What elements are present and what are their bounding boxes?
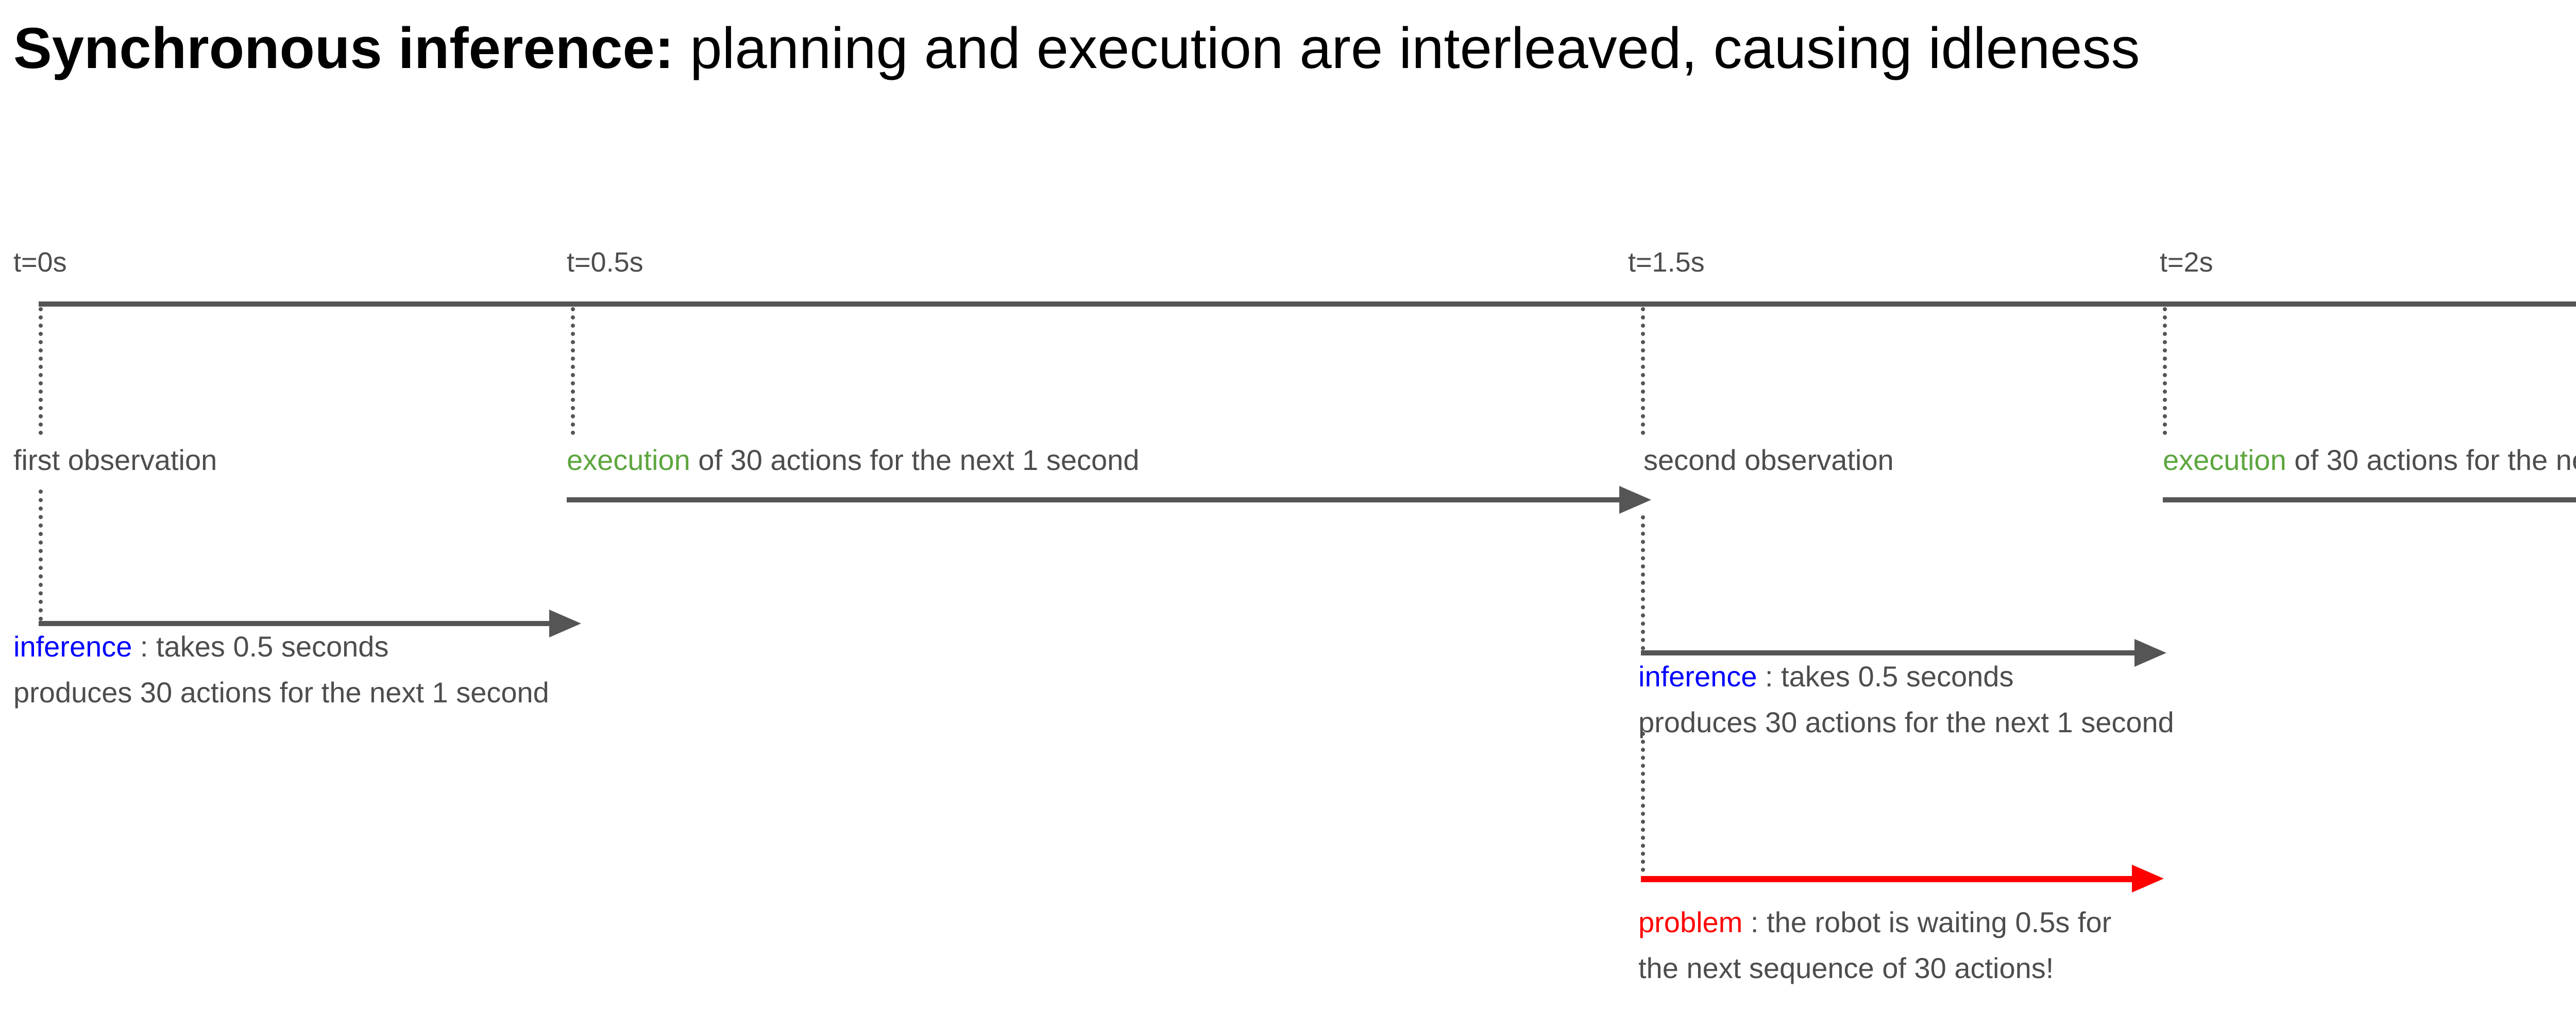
guide-t15-middle	[1641, 515, 1645, 650]
problem-line2: the next sequence of 30 actions!	[1638, 951, 2111, 985]
page-title: Synchronous inference: planning and exec…	[13, 16, 2140, 80]
inference-rest-1: : takes 0.5 seconds	[132, 630, 388, 663]
tick-label-t05: t=0.5s	[567, 246, 643, 278]
problem-keyword: problem	[1638, 906, 1742, 938]
problem-arrow-arrowhead	[2132, 865, 2164, 893]
execution-arrow-2-shaft	[2163, 497, 2576, 502]
execution-keyword-1: execution	[567, 444, 690, 476]
tick-label-t0: t=0s	[13, 246, 67, 278]
inference-arrow-1-arrowhead	[549, 610, 581, 637]
guide-t05-upper	[571, 307, 575, 435]
execution-label-1: execution of 30 actions for the next 1 s…	[567, 443, 1139, 477]
execution-keyword-2: execution	[2163, 444, 2286, 476]
inference-caption-2: inference : takes 0.5 seconds produces 3…	[1638, 660, 2174, 739]
diagram-canvas: Synchronous inference: planning and exec…	[0, 0, 2576, 1010]
inference-keyword-2: inference	[1638, 660, 1757, 693]
inference-caption-1: inference : takes 0.5 seconds produces 3…	[13, 630, 549, 709]
page-title-rest: planning and execution are interleaved, …	[674, 16, 2140, 80]
guide-t0-lower	[39, 490, 43, 621]
tick-label-t15: t=1.5s	[1628, 246, 1705, 278]
second-observation-text: second observation	[1643, 444, 1894, 476]
execution-arrow-1-shaft	[567, 497, 1620, 502]
execution-rest-2: of 30 actions for the next 1 second	[2286, 444, 2576, 476]
inference-keyword-1: inference	[13, 630, 132, 663]
problem-caption: problem : the robot is waiting 0.5s for …	[1638, 905, 2111, 985]
execution-label-2: execution of 30 actions for the next 1 s…	[2163, 443, 2576, 477]
inference-rest-2: : takes 0.5 seconds	[1757, 660, 2013, 693]
tick-label-t2: t=2s	[2160, 246, 2213, 278]
inference-arrow-2-shaft	[1641, 650, 2136, 655]
problem-arrow-shaft	[1641, 876, 2133, 882]
second-observation-label: second observation	[1643, 443, 1894, 477]
guide-t2-upper	[2163, 307, 2167, 435]
inference-line2-1: produces 30 actions for the next 1 secon…	[13, 676, 549, 709]
page-title-bold: Synchronous inference:	[13, 16, 674, 80]
execution-arrow-1-arrowhead	[1619, 486, 1651, 514]
execution-rest-1: of 30 actions for the next 1 second	[690, 444, 1140, 476]
first-observation-label: first observation	[13, 443, 217, 477]
guide-t0-upper	[39, 307, 43, 435]
main-timeline-shaft	[39, 301, 2576, 307]
inference-line2-2: produces 30 actions for the next 1 secon…	[1638, 705, 2174, 739]
guide-t15-lower	[1641, 732, 1645, 872]
inference-arrow-1-shaft	[39, 621, 550, 626]
problem-rest: : the robot is waiting 0.5s for	[1742, 906, 2111, 938]
first-observation-text: first observation	[13, 444, 217, 476]
guide-t15-upper	[1641, 307, 1645, 435]
